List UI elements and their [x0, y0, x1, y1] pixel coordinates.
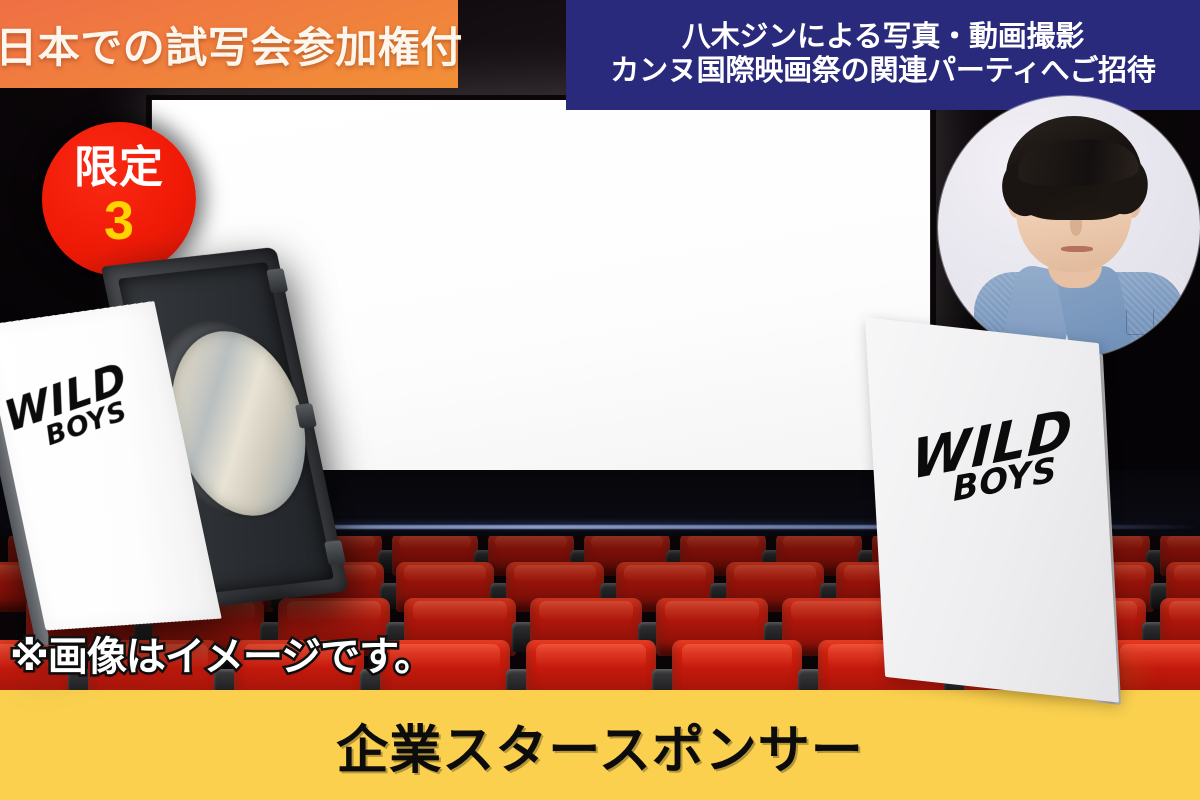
wild-boys-poster: WILD BOYS — [872, 330, 1182, 750]
limited-quantity-badge: 限定 3 — [42, 122, 196, 276]
footer-text: 企業スタースポンサー — [336, 708, 863, 783]
poster-face — [865, 317, 1119, 702]
promo-card: 日本での試写会参加権付 八木ジンによる写真・動画撮影 カンヌ国際映画祭の関連パー… — [0, 0, 1200, 800]
dvd-clip-bottom — [324, 540, 346, 565]
limited-badge-count: 3 — [104, 194, 134, 248]
image-disclaimer: ※画像はイメージです。 — [10, 624, 433, 682]
banner-orange-text: 日本での試写会参加権付 — [0, 14, 463, 75]
banner-blue-line-1: 八木ジンによる写真・動画撮影 — [682, 21, 1084, 55]
cinema-seat — [672, 640, 802, 690]
banner-blue-line-2: カンヌ国際映画祭の関連パーティへご招待 — [610, 55, 1155, 89]
portrait-mouth — [1061, 246, 1093, 252]
avatar — [938, 96, 1200, 358]
cinema-seat — [526, 640, 656, 690]
dvd-clip-mid — [295, 403, 317, 428]
limited-badge-label: 限定 — [74, 146, 164, 190]
dvd-clip-top — [266, 268, 288, 293]
banner-cannes-invite: 八木ジンによる写真・動画撮影 カンヌ国際映画祭の関連パーティへご招待 — [566, 0, 1200, 110]
banner-screening-invite: 日本での試写会参加権付 — [0, 0, 458, 88]
